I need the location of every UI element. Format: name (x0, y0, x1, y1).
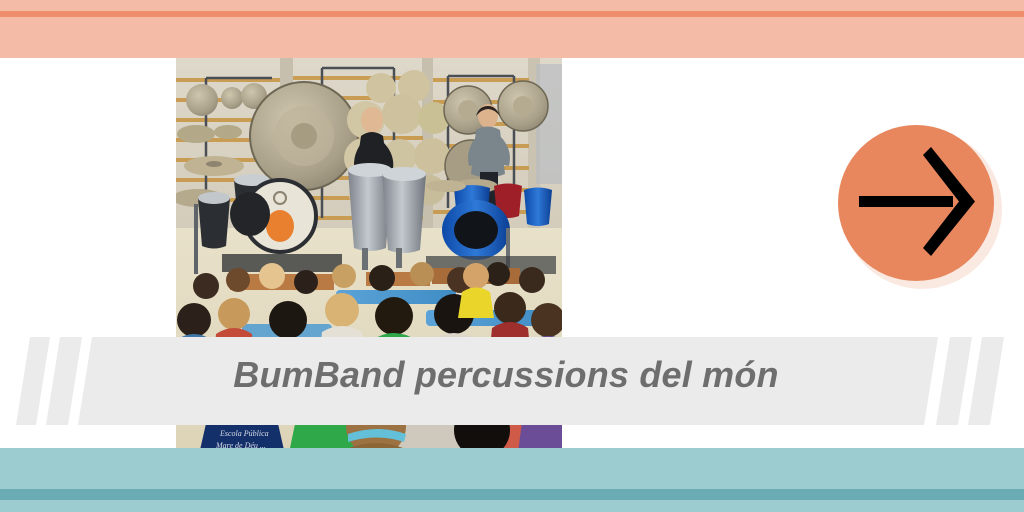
svg-text:Mare de Déu ...: Mare de Déu ... (215, 441, 266, 448)
svg-text:Escola Pública: Escola Pública (219, 429, 269, 438)
bottom-band-stripe (0, 489, 1024, 500)
bottom-band (0, 448, 1024, 512)
top-band-stripe (0, 11, 1024, 17)
next-button[interactable] (838, 125, 1002, 289)
page-title: BumBand percussions del món (0, 354, 1012, 396)
top-band (0, 0, 1024, 58)
arrow-right-icon (838, 125, 994, 281)
slide-canvas: Escola Pública Mare de Déu ... (0, 0, 1024, 512)
